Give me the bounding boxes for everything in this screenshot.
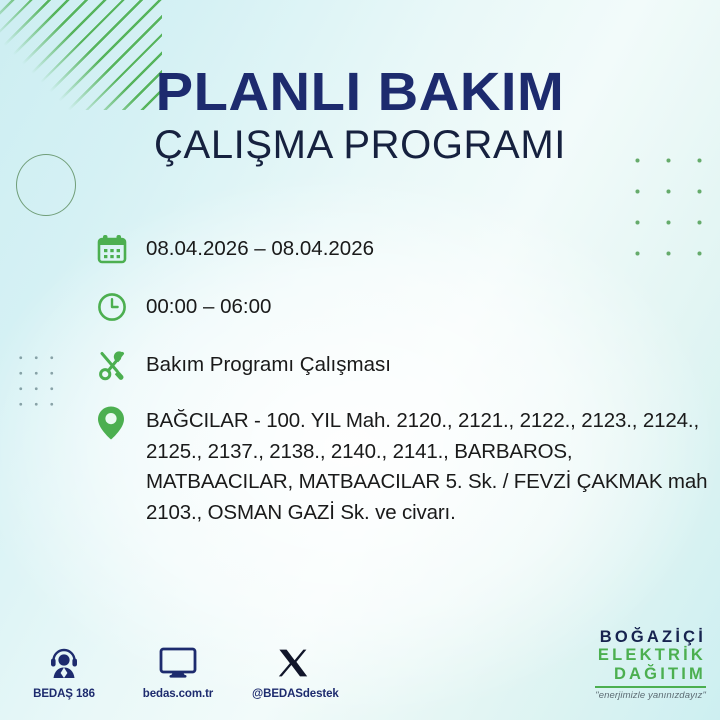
contact-x-account[interactable]: @BEDASdestek bbox=[252, 639, 332, 702]
detail-row-location: BAĞCILAR - 100. YIL Mah. 2120., 2121., 2… bbox=[96, 402, 712, 528]
contact-phone[interactable]: BEDAŞ 186 bbox=[24, 639, 104, 702]
x-twitter-icon bbox=[252, 639, 332, 679]
dot-grid-left-decoration bbox=[13, 350, 65, 418]
page-title: PLANLI BAKIM bbox=[0, 64, 720, 120]
logo-line-elektrik: ELEKTRİK bbox=[595, 647, 706, 664]
page-subtitle: ÇALIŞMA PROGRAMI bbox=[0, 122, 720, 168]
maintenance-time-range: 00:00 – 06:00 bbox=[146, 286, 712, 322]
location-pin-icon bbox=[96, 402, 146, 444]
maintenance-details: 08.04.2026 – 08.04.2026 00:00 – 06:00 bbox=[96, 228, 712, 544]
maintenance-work-type: Bakım Programı Çalışması bbox=[146, 344, 712, 380]
detail-row-date: 08.04.2026 – 08.04.2026 bbox=[96, 228, 712, 270]
contact-channels: BEDAŞ 186 bedas.com.tr bbox=[24, 639, 332, 702]
logo-tagline: "enerjimizle yanınızdayız" bbox=[595, 691, 706, 701]
maintenance-date-range: 08.04.2026 – 08.04.2026 bbox=[146, 228, 712, 264]
monitor-icon bbox=[138, 639, 218, 679]
contact-phone-label: BEDAŞ 186 bbox=[33, 688, 95, 700]
poster-header: PLANLI BAKIM ÇALIŞMA PROGRAMI bbox=[0, 64, 720, 168]
detail-row-time: 00:00 – 06:00 bbox=[96, 286, 712, 328]
poster-footer: BEDAŞ 186 bedas.com.tr bbox=[0, 610, 720, 720]
bedas-logo: BOĞAZİÇİ ELEKTRİK DAĞITIM "enerjimizle y… bbox=[595, 629, 706, 700]
logo-line-bogazici: BOĞAZİÇİ bbox=[595, 629, 706, 646]
call-center-icon bbox=[24, 639, 104, 679]
tools-icon bbox=[96, 344, 146, 386]
logo-line-dagitim: DAĞITIM bbox=[595, 666, 706, 683]
logo-divider bbox=[595, 686, 706, 687]
detail-row-worktype: Bakım Programı Çalışması bbox=[96, 344, 712, 386]
contact-website[interactable]: bedas.com.tr bbox=[138, 639, 218, 702]
planned-maintenance-poster: PLANLI BAKIM ÇALIŞMA PROGRAMI 08 bbox=[0, 0, 720, 720]
contact-website-label: bedas.com.tr bbox=[143, 688, 213, 700]
calendar-icon bbox=[96, 228, 146, 270]
contact-x-label: @BEDASdestek bbox=[252, 688, 339, 700]
clock-icon bbox=[96, 286, 146, 328]
maintenance-address: BAĞCILAR - 100. YIL Mah. 2120., 2121., 2… bbox=[146, 402, 712, 528]
